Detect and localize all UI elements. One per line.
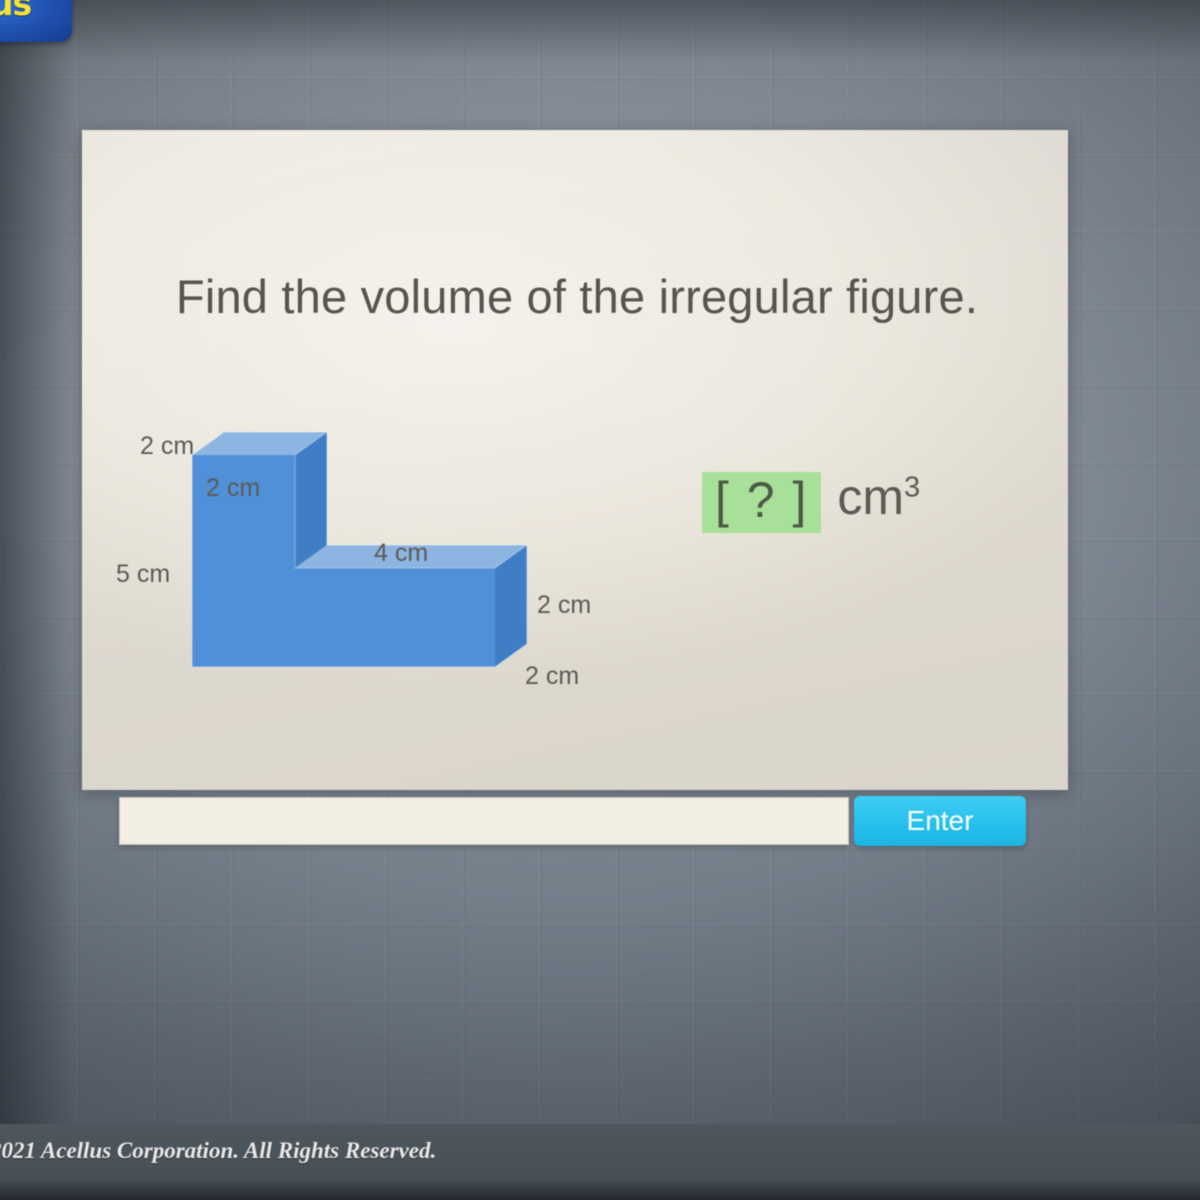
dimension-label-arm-length: 4 cm — [374, 539, 428, 568]
screenshot-root: us Find the volume of the irregular figu… — [0, 0, 1200, 1200]
answer-input[interactable] — [119, 797, 849, 845]
answer-expression: [ ? ] cm3 — [702, 472, 920, 533]
acellus-logo-text: us — [0, 0, 31, 23]
dimension-label-right-height: 2 cm — [537, 591, 591, 620]
answer-placeholder-box[interactable]: [ ? ] — [702, 472, 821, 533]
dimension-label-top-depth: 2 cm — [206, 474, 260, 503]
answer-unit-base: cm — [837, 469, 904, 525]
dimension-label-top-width: 2 cm — [140, 432, 194, 461]
footer-copyright: 2021 Acellus Corporation. All Rights Res… — [0, 1138, 436, 1164]
dimension-label-right-depth: 2 cm — [525, 662, 579, 691]
acellus-logo-badge[interactable]: us — [0, 0, 72, 42]
question-card: Find the volume of the irregular figure. — [82, 130, 1068, 790]
answer-unit-exponent: 3 — [904, 471, 920, 503]
answer-unit: cm3 — [837, 472, 920, 522]
column-right-face — [295, 432, 327, 568]
question-title: Find the volume of the irregular figure. — [172, 270, 982, 324]
dimension-label-left-height: 5 cm — [116, 560, 170, 589]
enter-button[interactable]: Enter — [854, 796, 1026, 846]
